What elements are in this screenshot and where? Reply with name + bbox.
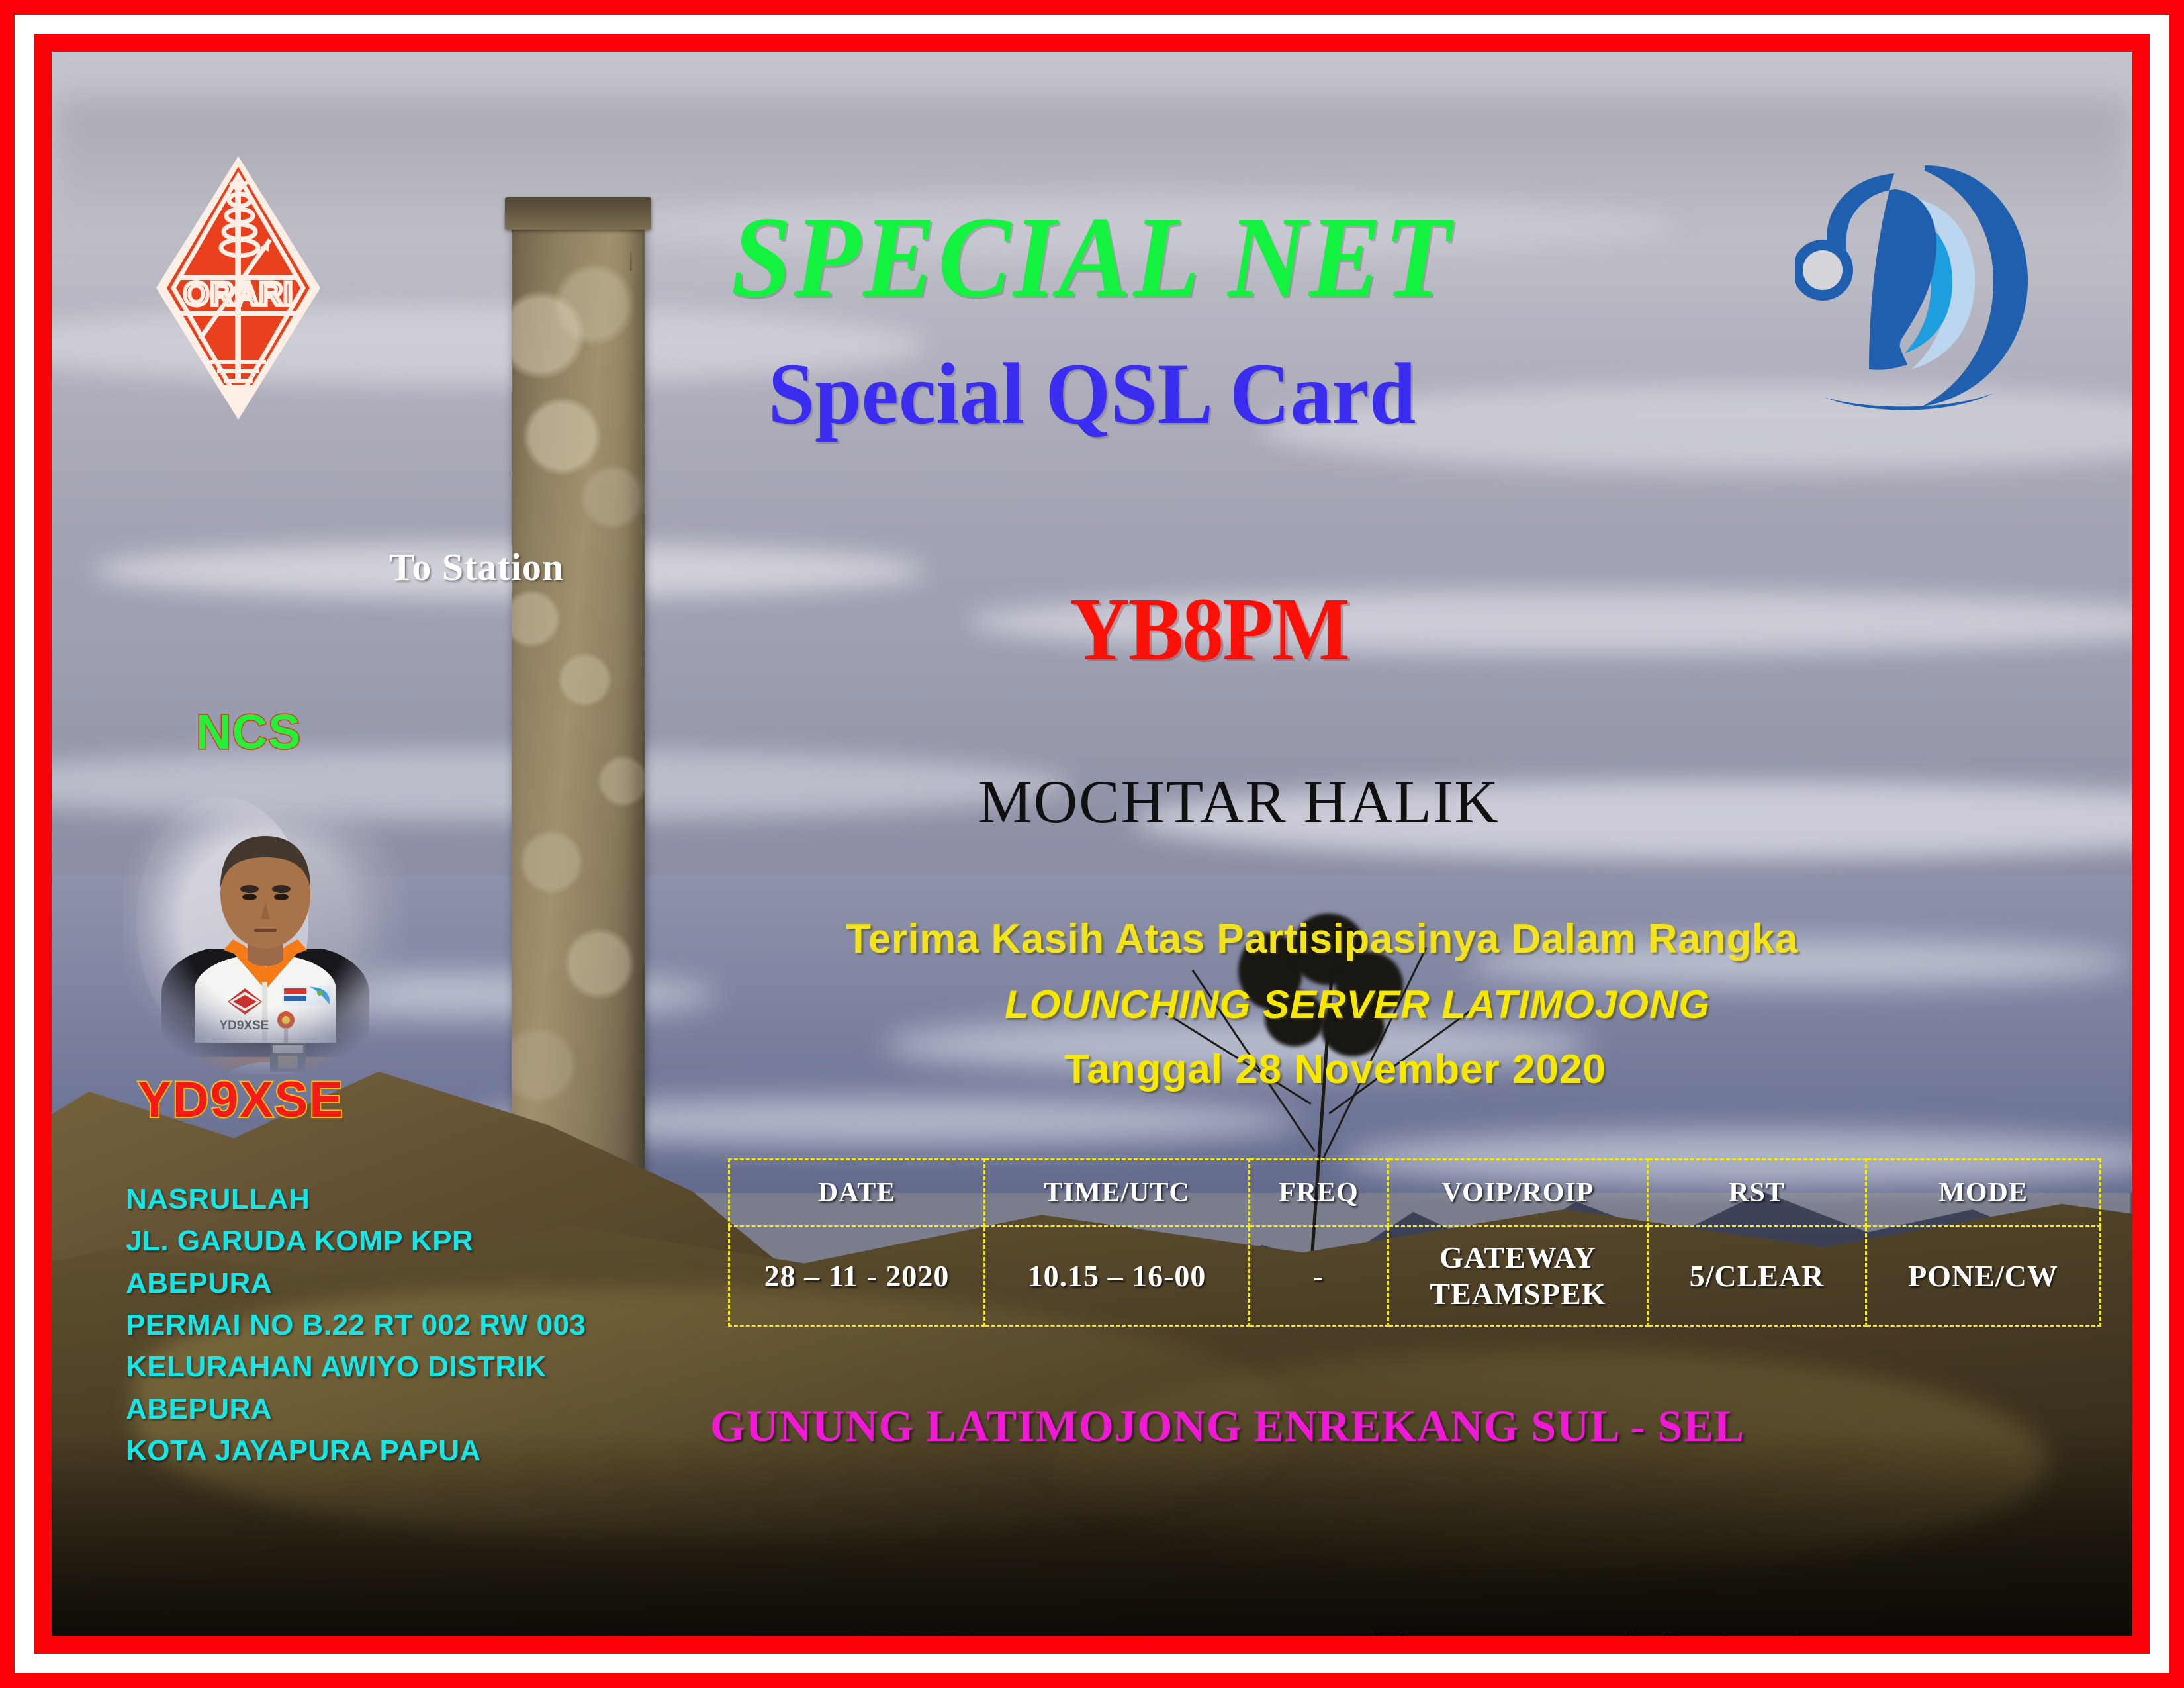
to-station-label: To Station [389,545,564,589]
event-thanks-line: Terima Kasih Atas Partisipasinya Dalam R… [846,915,1798,962]
ncs-callsign: YD9XSE [138,1071,344,1129]
address-line: PERMAI NO B.22 RT 002 RW 003 [126,1304,586,1346]
cell-voip-line2: TEAMSPEK [1430,1277,1606,1311]
address-block: NASRULLAH JL. GARUDA KOMP KPR ABEPURA PE… [126,1178,586,1472]
address-line: JL. GARUDA KOMP KPR [126,1220,586,1262]
cell-voip-line1: GATEWAY [1439,1241,1596,1274]
column-header-rst: RST [1648,1160,1866,1227]
page-subtitle: Special QSL Card [93,343,2091,444]
column-header-freq: FREQ [1250,1160,1388,1227]
address-line: KELURAHAN AWIYO DISTRIK [126,1346,586,1387]
footer-website: Address : amatir.latimojong.com [1326,1626,1970,1636]
table-header-row: DATE TIME/UTC FREQ VOIP/ROIP RST MODE [729,1160,2101,1227]
address-line: NASRULLAH [126,1178,586,1220]
ncs-label: NCS [196,704,301,760]
event-name-line: LOUNCHING SERVER LATIMOJONG [1005,982,1710,1027]
qso-details-table: DATE TIME/UTC FREQ VOIP/ROIP RST MODE 28… [728,1158,2101,1327]
column-header-mode: MODE [1866,1160,2101,1227]
address-line: ABEPURA [126,1388,586,1430]
qsl-card: ORARI [0,0,2184,1688]
table-row: 28 – 11 - 2020 10.15 – 16-00 - GATEWAY T… [729,1227,2101,1326]
event-date-line: Tanggal 28 November 2020 [1064,1046,1606,1093]
column-header-time: TIME/UTC [985,1160,1250,1227]
address-line: KOTA JAYAPURA PAPUA [126,1430,586,1472]
card-background-photo: ORARI [52,52,2132,1636]
address-line: ABEPURA [126,1262,586,1304]
column-header-voip: VOIP/ROIP [1388,1160,1648,1227]
cell-voip-roip: GATEWAY TEAMSPEK [1388,1227,1648,1326]
footer-motto: "AMATIR RADIO ADALAH PROGRESIVE" [149,1626,1082,1636]
operator-portrait-photo: YD9XSE [123,783,408,1074]
location-label: GUNUNG LATIMOJONG ENREKANG SUL - SEL [710,1400,1745,1452]
cell-rst: 5/CLEAR [1648,1227,1866,1326]
cell-date: 28 – 11 - 2020 [729,1227,985,1326]
cell-time: 10.15 – 16-00 [985,1227,1250,1326]
station-callsign: YB8PM [1069,578,1349,681]
svg-text:YD9XSE: YD9XSE [220,1019,269,1033]
cell-mode: PONE/CW [1866,1227,2101,1326]
operator-name: MOCHTAR HALIK [978,767,1500,837]
column-header-date: DATE [729,1160,985,1227]
cell-freq: - [1250,1227,1388,1326]
page-title: SPECIAL NET [114,191,2070,324]
